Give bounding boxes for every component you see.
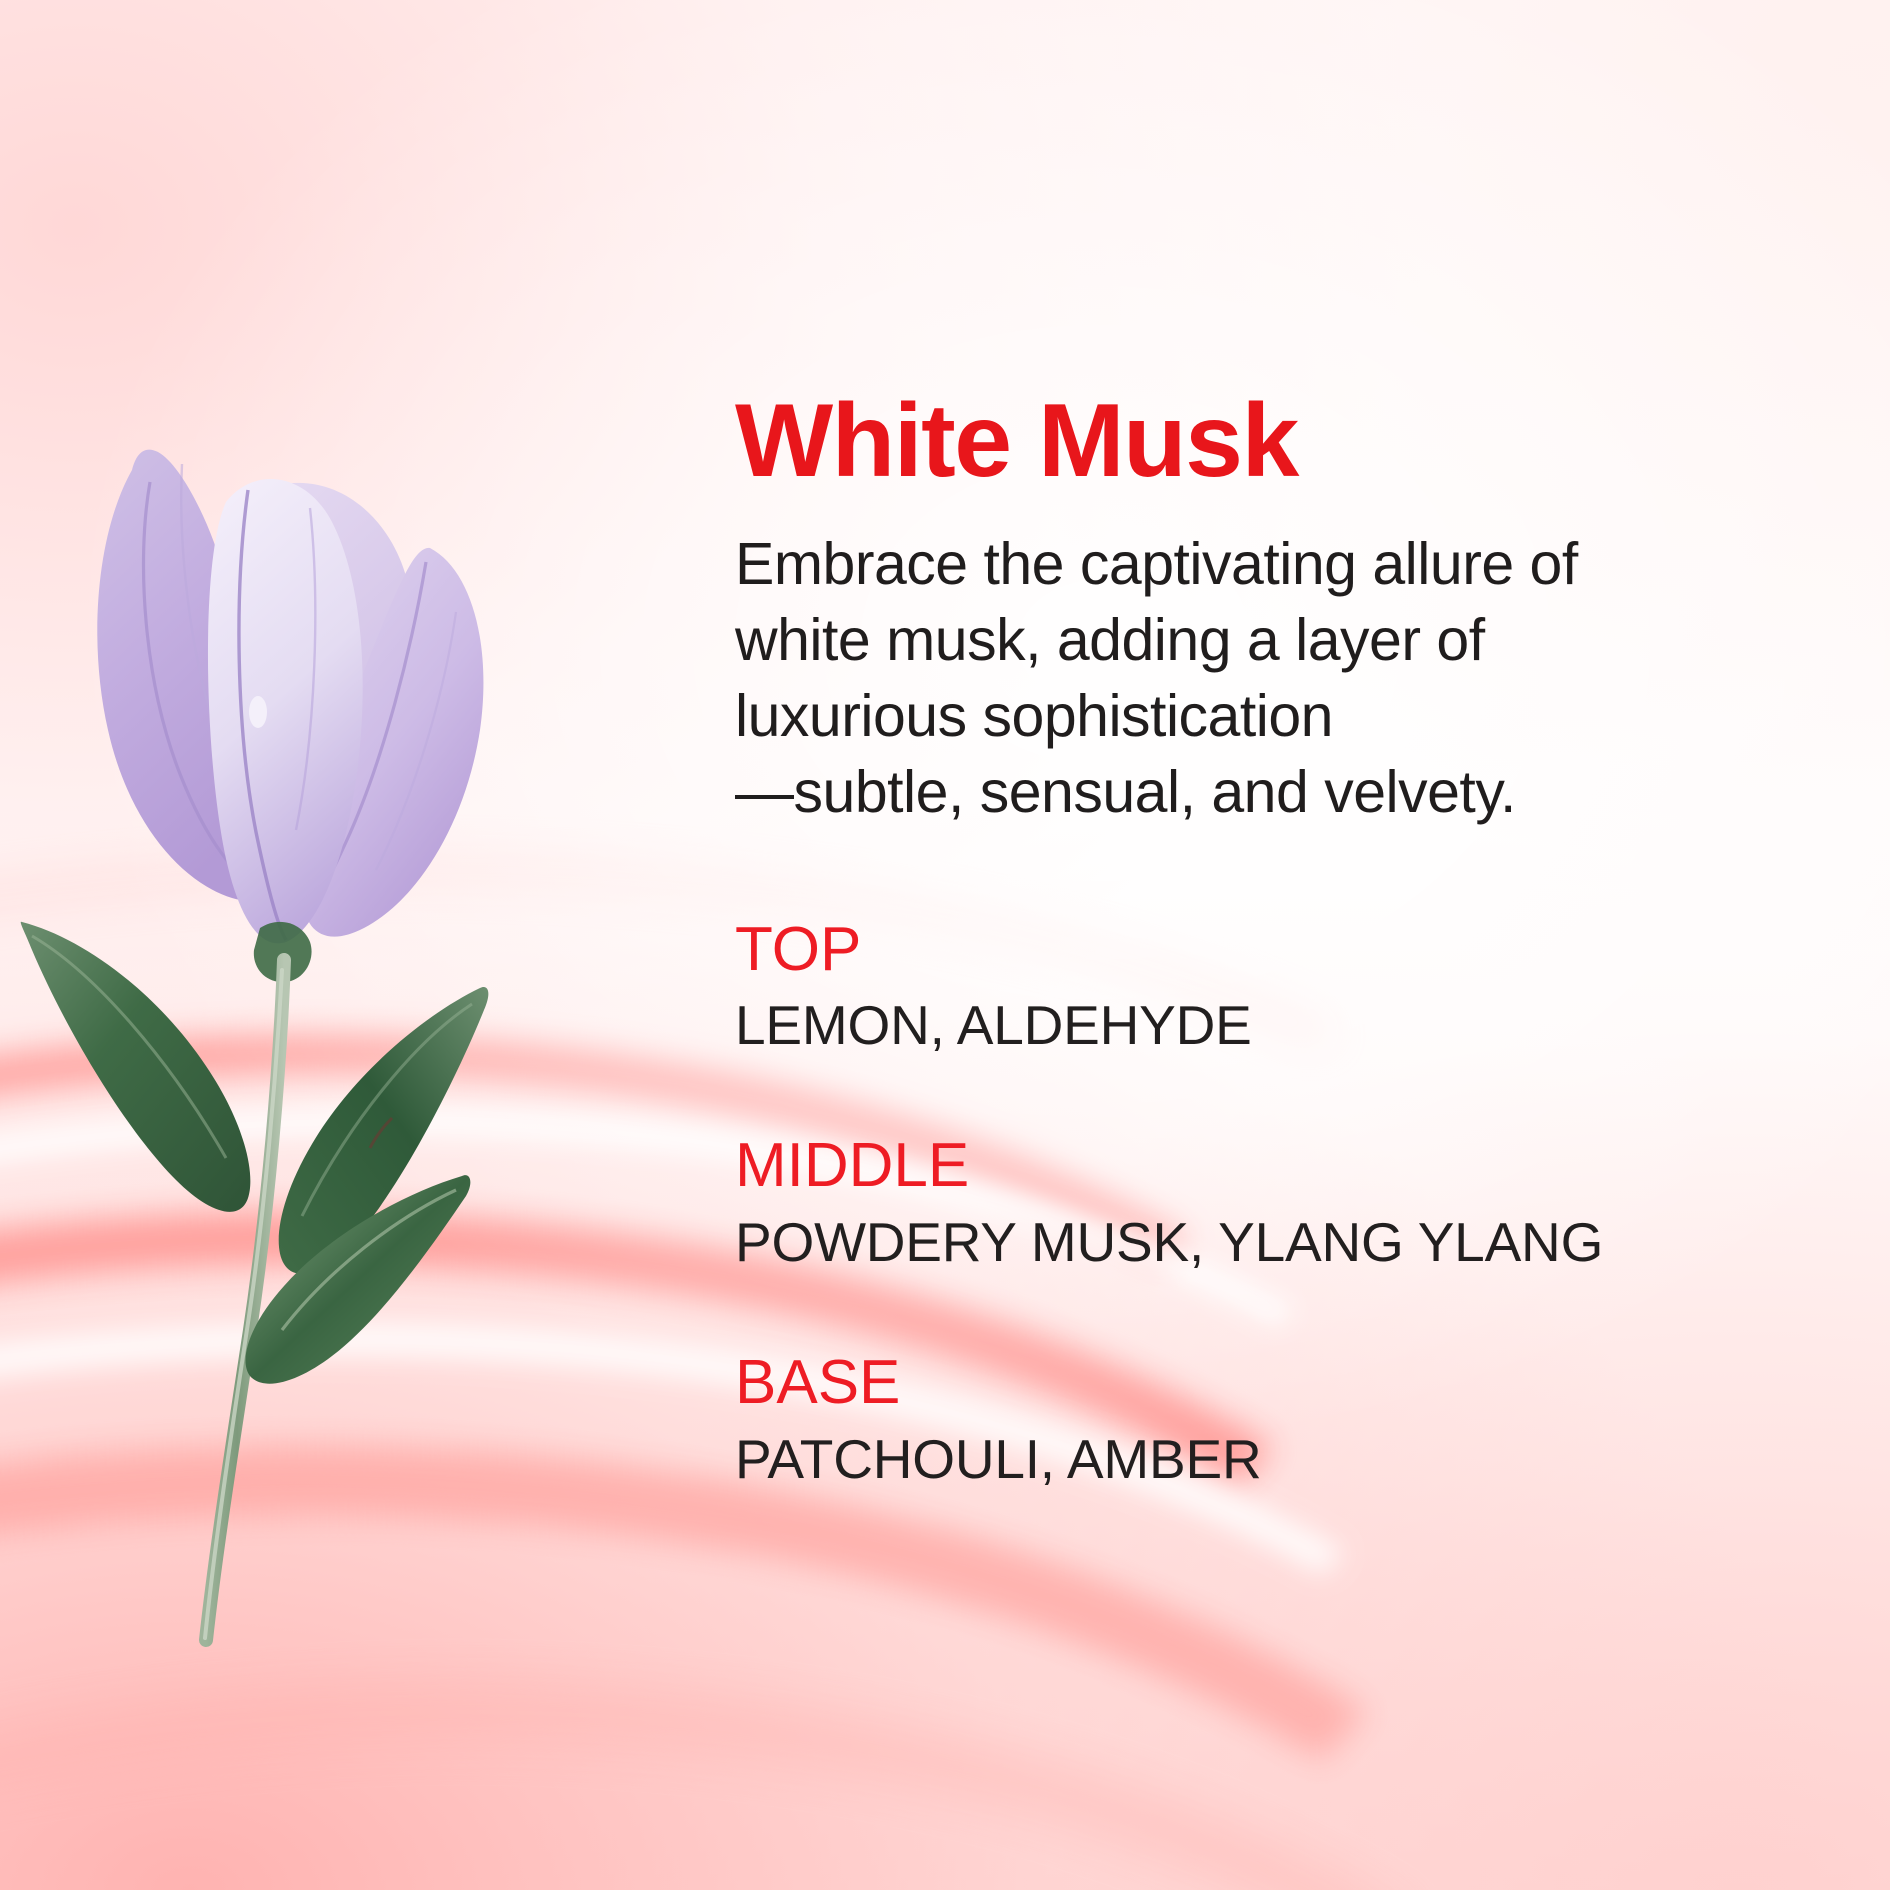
note-value-top: LEMON, ALDEHYDE <box>735 995 1835 1057</box>
text-column: White Musk Embrace the captivating allur… <box>735 388 1835 1490</box>
note-label-middle: MIDDLE <box>735 1133 1835 1200</box>
note-block-base: BASE PATCHOULI, AMBER <box>735 1350 1835 1491</box>
ribbon-arc-6 <box>0 1645 1724 1890</box>
leaf-upper-left <box>21 922 251 1212</box>
note-block-top: TOP LEMON, ALDEHYDE <box>735 917 1835 1058</box>
note-label-top: TOP <box>735 917 1835 984</box>
note-block-middle: MIDDLE POWDERY MUSK, YLANG YLANG <box>735 1133 1835 1274</box>
product-note-card: White Musk Embrace the captivating allur… <box>0 0 1890 1890</box>
note-value-middle: POWDERY MUSK, YLANG YLANG <box>735 1212 1835 1274</box>
description-line: —subtle, sensual, and velvety. <box>735 759 1516 825</box>
note-label-base: BASE <box>735 1350 1835 1417</box>
fragrance-notes-list: TOP LEMON, ALDEHYDE MIDDLE POWDERY MUSK,… <box>735 917 1835 1491</box>
description-line: Embrace the captivating allure of <box>735 531 1578 597</box>
description-line: luxurious sophistication <box>735 683 1333 749</box>
flower-illustration <box>10 430 540 1670</box>
note-value-base: PATCHOULI, AMBER <box>735 1429 1835 1491</box>
description-line: white musk, adding a layer of <box>735 607 1485 673</box>
page-title: White Musk <box>735 388 1835 494</box>
description-text: Embrace the captivating allure of white … <box>735 526 1735 830</box>
